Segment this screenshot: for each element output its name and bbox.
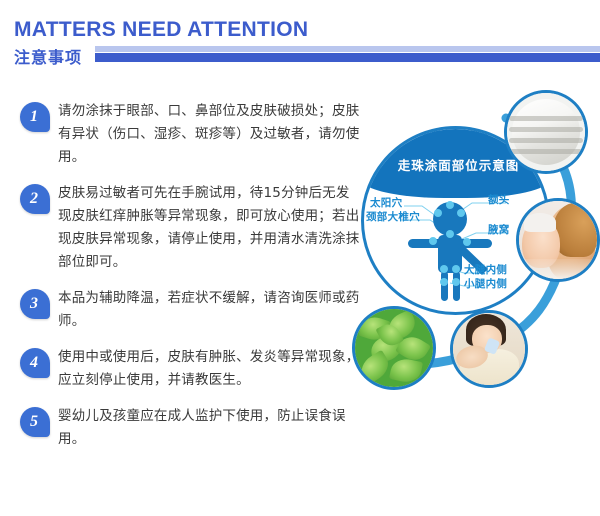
diagram-label-neck-dazhui: 颈部大椎穴 (366, 209, 420, 224)
list-item: 2 皮肤易过敏者可先在手腕试用，待15分钟后无发现皮肤红痒肿胀等异常现象，即可放… (0, 182, 360, 274)
notice-number-badge: 4 (20, 348, 50, 378)
notice-number-badge: 5 (20, 407, 50, 437)
header-divider-bar (95, 46, 600, 64)
page-header: MATTERS NEED ATTENTION 注意事项 (0, 0, 600, 72)
notice-number-badge: 1 (20, 102, 50, 132)
diagram-label-inner-thigh: 大腿内侧 (464, 262, 507, 277)
list-item: 5 婴幼儿及孩童应在成人监护下使用，防止误食误用。 (0, 405, 360, 451)
diagram-label-armpit: 腋窝 (488, 222, 510, 237)
notice-number: 2 (20, 184, 50, 214)
list-item: 4 使用中或使用后，皮肤有肿胀、发炎等异常现象，应立刻停止使用，并请教医生。 (0, 346, 360, 392)
product-cap-photo (504, 90, 588, 174)
notice-number: 5 (20, 407, 50, 437)
notice-text: 皮肤易过敏者可先在手腕试用，待15分钟后无发现皮肤红痒肿胀等异常现象，即可放心使… (58, 182, 360, 274)
notice-list: 1 请勿涂抹于眼部、口、鼻部位及皮肤破损处；皮肤有异状（伤口、湿疹、斑疹等）及过… (0, 100, 360, 464)
application-area-graphic: 走珠涂面部位示意图 (338, 78, 600, 418)
notice-number: 3 (20, 289, 50, 319)
notice-text: 请勿涂抹于眼部、口、鼻部位及皮肤破损处；皮肤有异状（伤口、湿疹、斑疹等）及过敏者… (58, 100, 360, 169)
diagram-label-inner-calf: 小腿内侧 (464, 276, 507, 291)
notice-text: 使用中或使用后，皮肤有肿胀、发炎等异常现象，应立刻停止使用，并请教医生。 (58, 346, 360, 392)
notice-text: 婴幼儿及孩童应在成人监护下使用，防止误食误用。 (58, 405, 360, 451)
header-bar-light (95, 46, 600, 52)
page-root: MATTERS NEED ATTENTION 注意事项 1 请勿涂抹于眼部、口、… (0, 0, 600, 516)
notice-number: 4 (20, 348, 50, 378)
diagram-label-forehead: 额头 (488, 192, 510, 207)
mother-and-baby-photo (516, 198, 600, 282)
mint-leaves-photo (352, 306, 436, 390)
notice-number: 1 (20, 102, 50, 132)
list-item: 1 请勿涂抹于眼部、口、鼻部位及皮肤破损处；皮肤有异状（伤口、湿疹、斑疹等）及过… (0, 100, 360, 169)
page-title-english: MATTERS NEED ATTENTION (14, 18, 308, 42)
header-bar-dark (95, 53, 600, 62)
page-title-chinese: 注意事项 (14, 44, 82, 68)
notice-text: 本品为辅助降温，若症状不缓解，请咨询医师或药师。 (58, 287, 360, 333)
notice-number-badge: 3 (20, 289, 50, 319)
diagram-label-temple: 太阳穴 (370, 195, 402, 210)
list-item: 3 本品为辅助降温，若症状不缓解，请咨询医师或药师。 (0, 287, 360, 333)
notice-number-badge: 2 (20, 184, 50, 214)
child-applying-photo (450, 310, 528, 388)
